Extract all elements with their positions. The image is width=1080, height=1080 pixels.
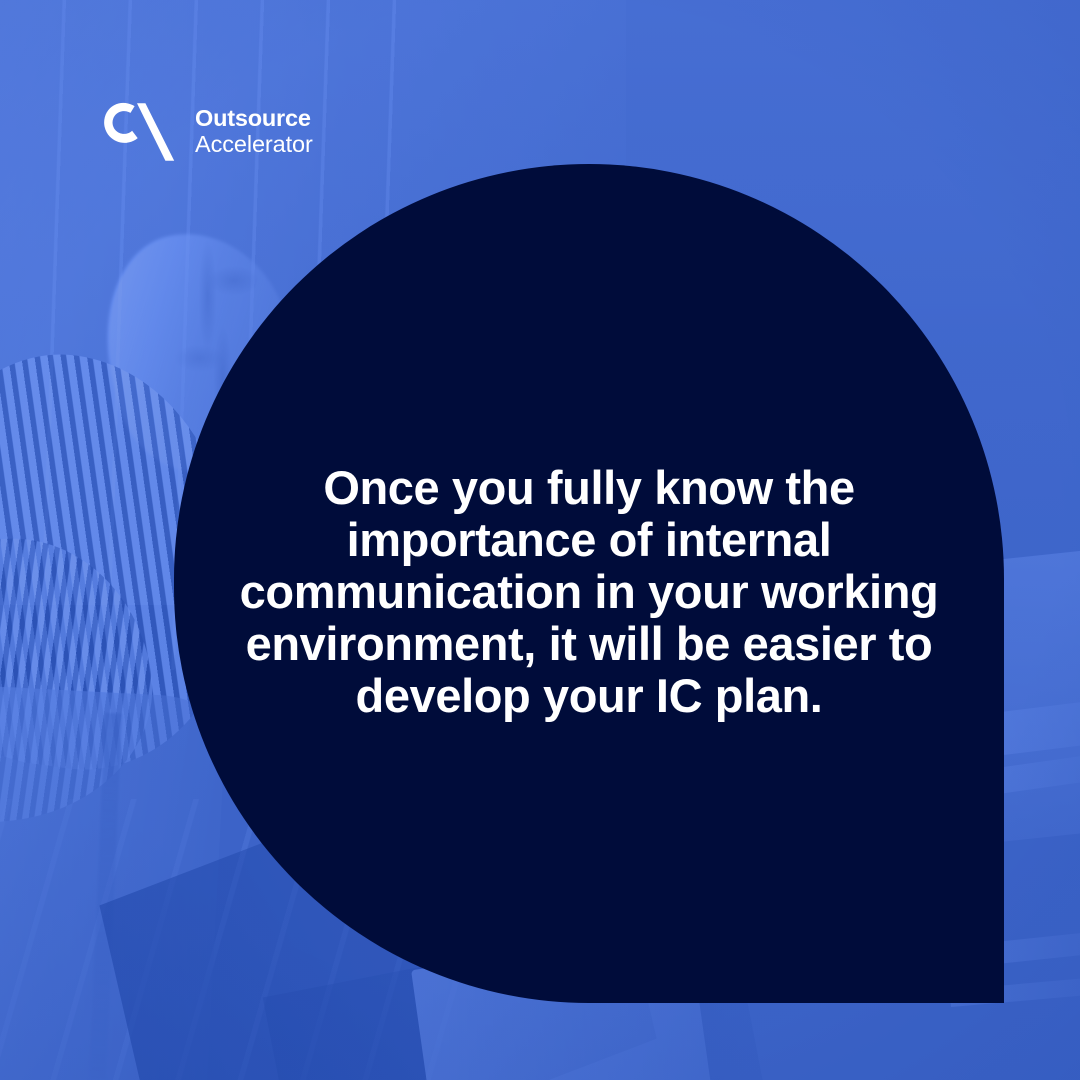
- quote-card: Outsource Accelerator Once you fully kno…: [0, 0, 1080, 1080]
- brand-logo: Outsource Accelerator: [104, 102, 313, 162]
- quote-line-3: communication in your working: [180, 566, 998, 618]
- brand-name-line-2: Accelerator: [195, 133, 313, 157]
- outsource-accelerator-monogram-icon: [104, 102, 178, 162]
- brand-wordmark: Outsource Accelerator: [195, 107, 313, 157]
- quote-text: Once you fully know the importance of in…: [180, 462, 998, 722]
- quote-line-5: develop your IC plan.: [180, 670, 998, 722]
- quote-line-2: importance of internal: [180, 514, 998, 566]
- quote-line-4: environment, it will be easier to: [180, 618, 998, 670]
- brand-name-line-1: Outsource: [195, 107, 313, 131]
- quote-line-1: Once you fully know the: [180, 462, 998, 514]
